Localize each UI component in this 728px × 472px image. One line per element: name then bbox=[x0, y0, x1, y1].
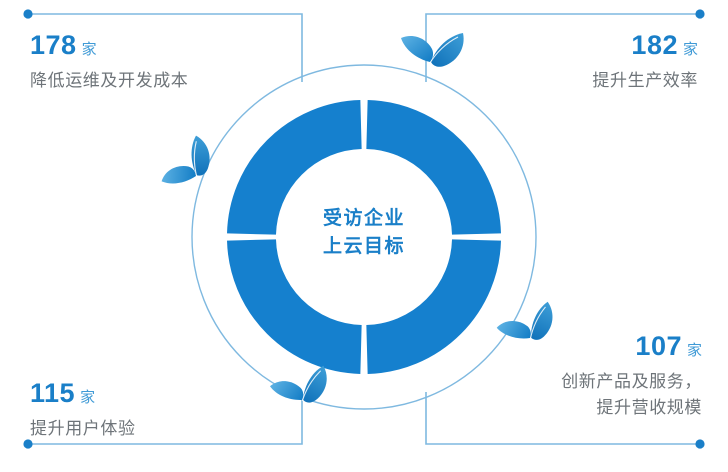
donut-center-label: 受访企业 上云目标 bbox=[264, 205, 464, 260]
callout-top-left-value: 178家 bbox=[30, 32, 188, 59]
infographic-canvas: 受访企业 上云目标 178家 降低运维及开发成本 182家 提升生产效率 107… bbox=[0, 0, 728, 472]
leaf-blade-right bbox=[431, 33, 464, 67]
callout-bottom-right-description-line2: 提升营收规模 bbox=[561, 395, 702, 421]
callout-top-right: 182家 提升生产效率 bbox=[592, 32, 698, 94]
callout-bottom-right-value: 107家 bbox=[561, 333, 702, 360]
callout-bottom-right-description-line1: 创新产品及服务， bbox=[561, 369, 702, 395]
callout-bottom-right: 107家 创新产品及服务， 提升营收规模 bbox=[561, 333, 702, 422]
dot-top-left bbox=[23, 9, 32, 18]
center-label-line2: 上云目标 bbox=[264, 233, 464, 261]
callout-top-left: 178家 降低运维及开发成本 bbox=[30, 32, 188, 94]
callout-bottom-right-number: 107 bbox=[635, 331, 682, 361]
callout-top-right-description: 提升生产效率 bbox=[592, 68, 698, 94]
callout-top-right-unit: 家 bbox=[683, 41, 698, 58]
leaf-blade-left bbox=[401, 36, 433, 62]
callout-top-left-unit: 家 bbox=[82, 41, 97, 58]
leaf-blade-left bbox=[160, 158, 198, 196]
callout-top-right-value: 182家 bbox=[592, 32, 698, 59]
dot-top-right bbox=[695, 9, 704, 18]
dot-bottom-right bbox=[695, 439, 704, 448]
callout-bottom-left-number: 115 bbox=[30, 378, 75, 408]
leaf-icon-left bbox=[158, 135, 220, 199]
leaf-icon-bottom-right bbox=[495, 301, 560, 352]
leaf-icon-top bbox=[401, 33, 464, 67]
center-label-line1: 受访企业 bbox=[264, 205, 464, 233]
callout-top-left-number: 178 bbox=[30, 30, 77, 60]
leaf-blade-left bbox=[269, 376, 304, 407]
callout-bottom-left: 115家 提升用户体验 bbox=[30, 380, 136, 442]
callout-bottom-left-description: 提升用户体验 bbox=[30, 416, 136, 442]
callout-bottom-right-unit: 家 bbox=[687, 342, 702, 359]
callout-bottom-left-unit: 家 bbox=[80, 389, 95, 406]
callout-top-left-description: 降低运维及开发成本 bbox=[30, 68, 188, 94]
callout-top-right-number: 182 bbox=[631, 30, 678, 60]
callout-bottom-left-value: 115家 bbox=[30, 380, 136, 407]
leaf-icon-bottom-left bbox=[269, 366, 333, 412]
